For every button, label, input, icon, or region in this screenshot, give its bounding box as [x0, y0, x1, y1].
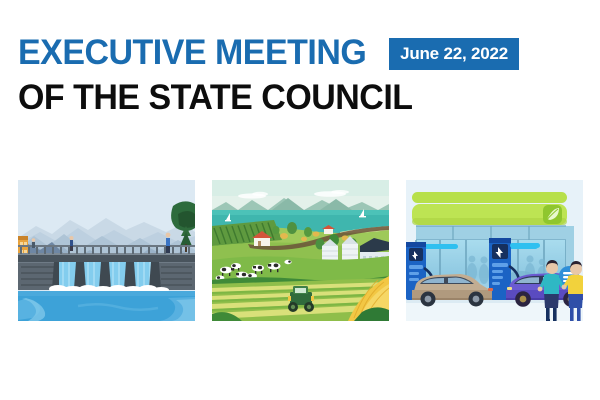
- card-agriculture-fields[interactable]: [212, 180, 389, 321]
- person-on-dam-left: [70, 236, 74, 251]
- page-title-line-2: OF THE STATE COUNCIL: [18, 79, 571, 117]
- ev-station-illustration: [406, 180, 583, 321]
- heading-block: EXECUTIVE MEETING June 22, 2022 OF THE S…: [18, 33, 588, 117]
- leaf-badge: [543, 205, 562, 224]
- agriculture-illustration: [212, 180, 389, 321]
- illustration-strip: [18, 180, 583, 321]
- page-title-line-1: EXECUTIVE MEETING: [18, 35, 366, 71]
- card-hydroelectric-dam[interactable]: [18, 180, 195, 321]
- date-badge: June 22, 2022: [389, 38, 519, 70]
- card-ev-charging-station[interactable]: [406, 180, 583, 321]
- person-on-dam-far-left: [32, 238, 36, 248]
- banner-root: EXECUTIVE MEETING June 22, 2022 OF THE S…: [0, 0, 600, 400]
- title-and-date-row: EXECUTIVE MEETING June 22, 2022: [18, 33, 588, 73]
- person-on-dam-right: [166, 233, 171, 253]
- dam-illustration: [18, 180, 195, 321]
